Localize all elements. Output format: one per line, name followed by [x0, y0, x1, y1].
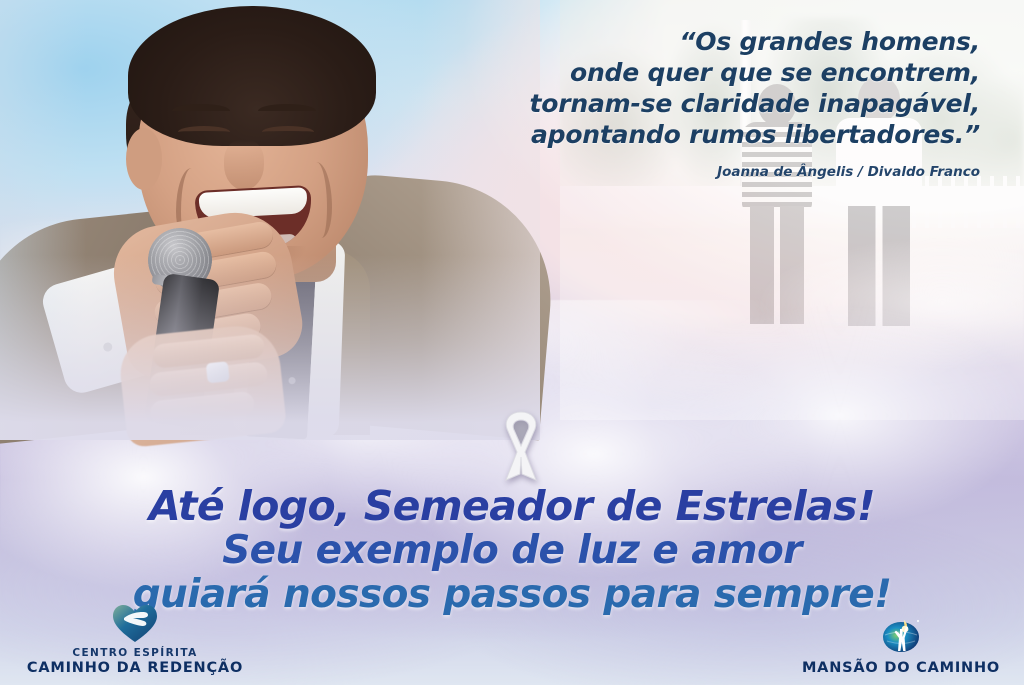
- logo-mansao-do-caminho: MANSÃO DO CAMINHO: [786, 613, 1016, 677]
- eye-left-closed: [178, 126, 230, 138]
- white-ribbon-icon: [486, 408, 556, 490]
- quote-line-1: “Os grandes homens,: [360, 26, 980, 57]
- logo-centro-espirita: CENTRO ESPÍRITA CAMINHO DA REDENÇÃO: [20, 604, 250, 677]
- eye-right-closed: [262, 126, 314, 138]
- quote-attribution: Joanna de Ângelis / Divaldo Franco: [360, 164, 980, 180]
- ear: [126, 128, 162, 190]
- headline-line-1: Até logo, Semeador de Estrelas!: [0, 484, 1024, 529]
- heart-hand-icon: [111, 604, 159, 644]
- ring: [206, 361, 230, 383]
- eyebrow-left: [172, 104, 230, 118]
- quote-line-3: tornam-se claridade inapagável,: [360, 88, 980, 119]
- memorial-poster: “Os grandes homens, onde quer que se enc…: [0, 0, 1024, 685]
- quote-line-2: onde quer que se encontrem,: [360, 57, 980, 88]
- headline-block: Até logo, Semeador de Estrelas! Seu exem…: [0, 484, 1024, 617]
- logo-left-line-1: CENTRO ESPÍRITA: [20, 647, 250, 660]
- logo-right-line-1: MANSÃO DO CAMINHO: [786, 660, 1016, 677]
- quote-block: “Os grandes homens, onde quer que se enc…: [360, 26, 980, 180]
- globe-figure-flame-icon: [878, 613, 924, 657]
- headline-line-2: Seu exemplo de luz e amor: [0, 529, 1024, 573]
- upper-teeth: [199, 187, 308, 219]
- quote-line-4: apontando rumos libertadores.”: [360, 119, 980, 150]
- eyebrow-right: [258, 104, 316, 118]
- nose: [224, 140, 264, 190]
- hand-gripping-microphone: [117, 322, 288, 448]
- hair: [128, 6, 376, 146]
- logo-left-line-2: CAMINHO DA REDENÇÃO: [20, 660, 250, 677]
- cuff-button: [102, 341, 113, 352]
